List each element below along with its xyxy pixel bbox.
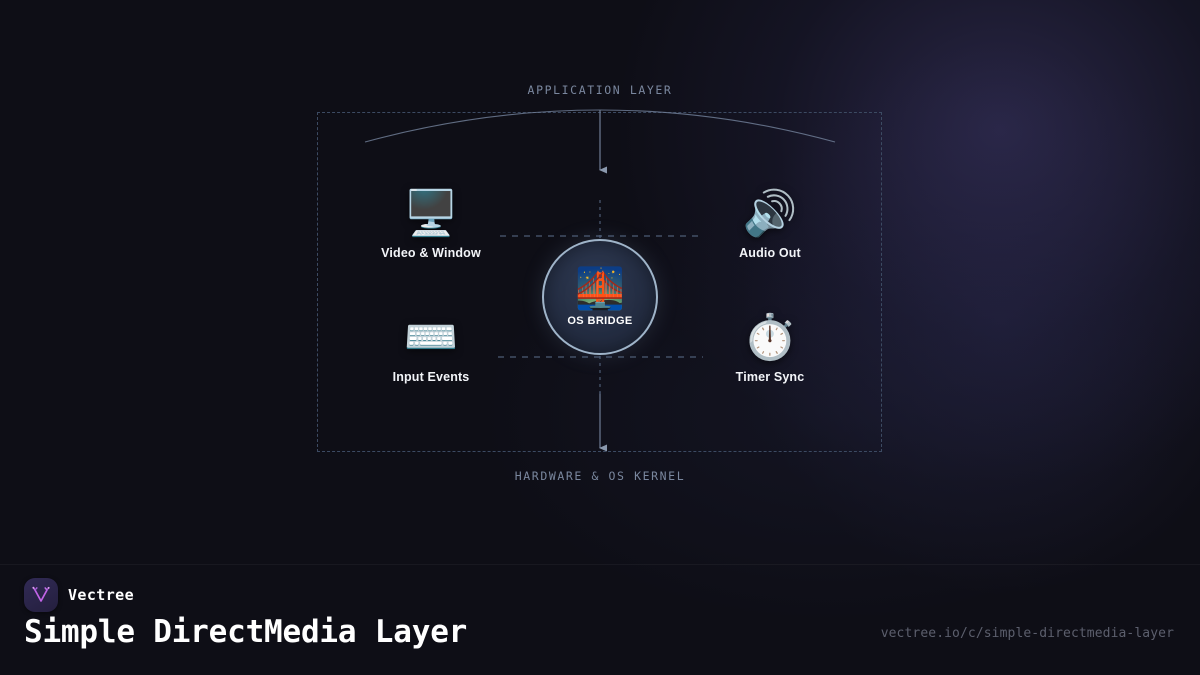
hardware-kernel-caption: HARDWARE & OS KERNEL <box>0 469 1200 483</box>
footer: Vectree Simple DirectMedia Layer vectree… <box>0 565 1200 675</box>
footer-url: vectree.io/c/simple-directmedia-layer <box>881 626 1174 641</box>
page-title: Simple DirectMedia Layer <box>24 614 467 650</box>
keyboard-icon: ⌨️ <box>351 312 511 364</box>
os-bridge-hub[interactable]: 🌉 OS BRIDGE <box>542 239 658 355</box>
node-input-events[interactable]: ⌨️ Input Events <box>351 312 511 384</box>
node-timer-sync[interactable]: ⏱️ Timer Sync <box>690 312 850 384</box>
brand-row[interactable]: Vectree <box>24 578 134 612</box>
vectree-logo-icon <box>24 578 58 612</box>
node-audio-out[interactable]: 🔊 Audio Out <box>690 188 850 260</box>
brand-name: Vectree <box>68 586 134 604</box>
stopwatch-icon: ⏱️ <box>690 312 850 364</box>
node-label-audio-out: Audio Out <box>690 246 850 260</box>
node-label-timer-sync: Timer Sync <box>690 370 850 384</box>
screenshot-root: APPLICATION LAYER 🖥️ Video & Win <box>0 0 1200 675</box>
bridge-at-night-icon: 🌉 <box>575 267 625 311</box>
node-label-input-events: Input Events <box>351 370 511 384</box>
node-video-window[interactable]: 🖥️ Video & Window <box>351 188 511 260</box>
desktop-computer-icon: 🖥️ <box>351 188 511 240</box>
application-layer-caption: APPLICATION LAYER <box>0 83 1200 97</box>
os-bridge-label: OS BRIDGE <box>567 315 632 327</box>
loud-speaker-icon: 🔊 <box>690 188 850 240</box>
node-label-video-window: Video & Window <box>351 246 511 260</box>
architecture-diagram: APPLICATION LAYER 🖥️ Video & Win <box>0 0 1200 560</box>
